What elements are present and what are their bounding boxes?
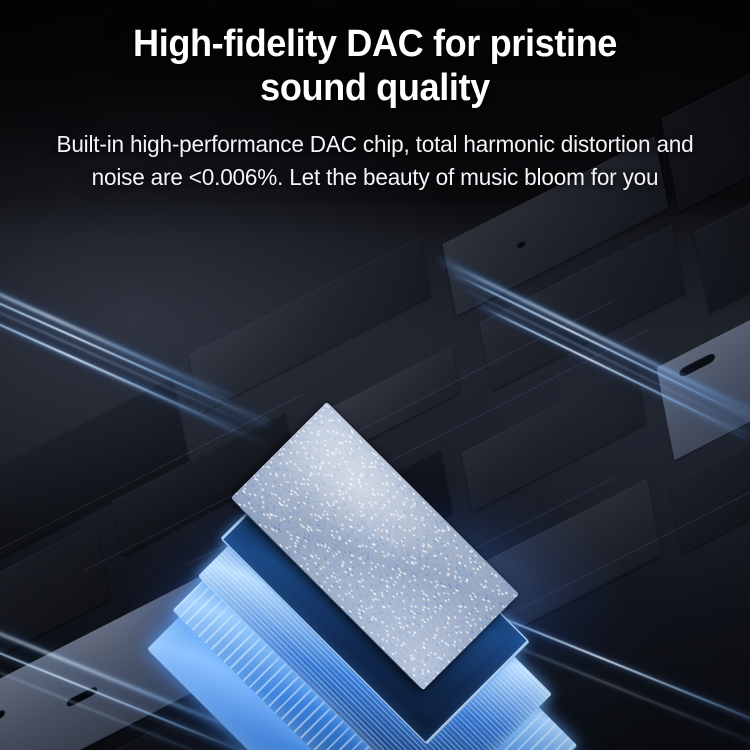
particle-trail [392,525,393,559]
page-title: High-fidelity DAC for pristine sound qua… [57,22,694,111]
headline-line-2: sound quality [260,67,490,109]
promo-copy-block: High-fidelity DAC for pristine sound qua… [0,0,750,195]
particle-trail [356,521,357,543]
headline-line-1: High-fidelity DAC for pristine [133,23,617,65]
dac-promo-banner: High-fidelity DAC for pristine sound qua… [0,0,750,750]
promo-subtitle: Built-in high-performance DAC chip, tota… [53,128,696,195]
particle-trail [370,513,371,539]
